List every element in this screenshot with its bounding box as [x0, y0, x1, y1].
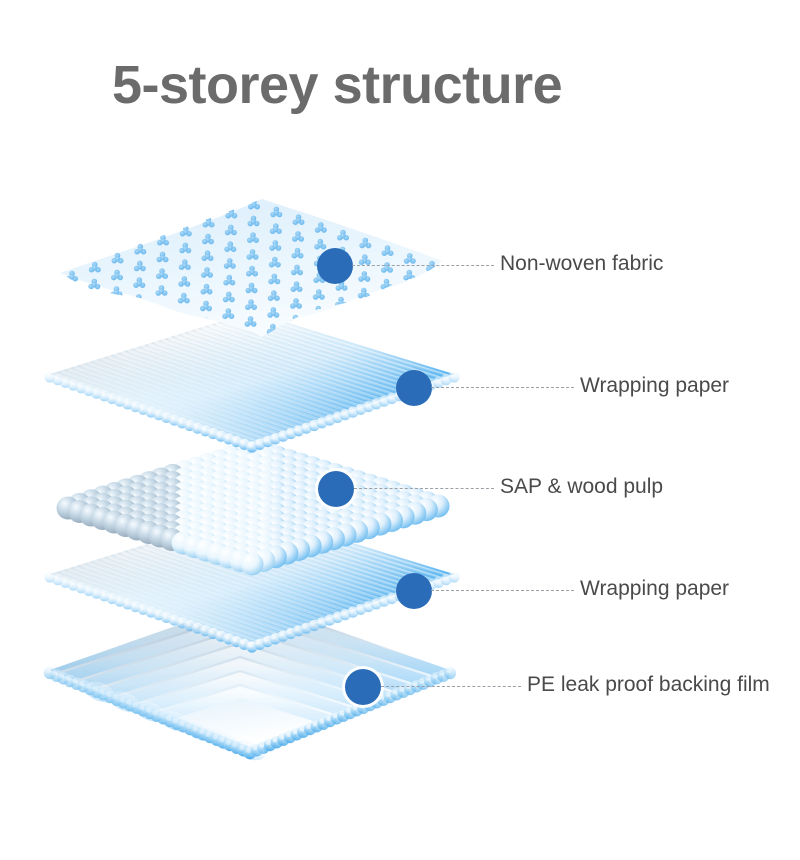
callout-label: Wrapping paper	[580, 576, 729, 601]
callout-marker-icon[interactable]	[396, 573, 432, 609]
callout-label: PE leak proof backing film	[527, 672, 770, 697]
callout-leader-line	[354, 488, 494, 489]
callout-leader-line	[352, 265, 494, 266]
diagram-stage: 5-storey structure	[0, 0, 800, 800]
callout-marker-icon[interactable]	[318, 471, 354, 507]
page-title: 5-storey structure	[112, 58, 562, 112]
callout-label: Non-woven fabric	[500, 251, 663, 276]
callout-marker-icon[interactable]	[317, 248, 353, 284]
callout-marker-icon[interactable]	[345, 669, 381, 705]
callout-marker-icon[interactable]	[396, 370, 432, 406]
layer-non-woven-fabric	[50, 195, 470, 455]
callout-label: Wrapping paper	[580, 373, 729, 398]
callout-leader-line	[381, 686, 521, 687]
callout-label: SAP & wood pulp	[500, 474, 663, 499]
callout-leader-line	[431, 387, 574, 388]
callout-leader-line	[431, 590, 574, 591]
non-woven-fabric-graphic	[50, 195, 450, 385]
